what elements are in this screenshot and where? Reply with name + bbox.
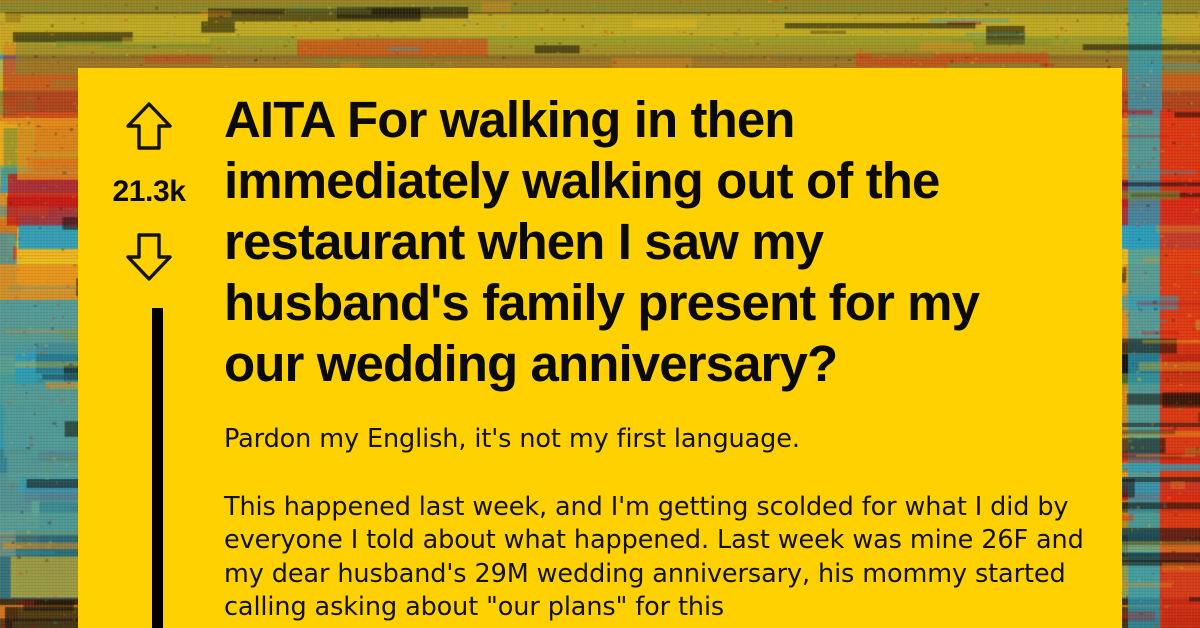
vote-rail: 21.3k: [78, 68, 220, 628]
post-card: 21.3k AITA For walking in then immediate…: [78, 68, 1122, 628]
post-title: AITA For walking in then immediately wal…: [224, 89, 1044, 394]
post-paragraph: This happened last week, and I'm getting…: [224, 491, 1104, 625]
thread-collapse-bar[interactable]: [152, 308, 163, 628]
arrow-down-icon[interactable]: [125, 230, 173, 282]
vote-score: 21.3k: [78, 175, 220, 209]
post-content: AITA For walking in then immediately wal…: [224, 68, 1122, 628]
post-paragraph: Pardon my English, it's not my first lan…: [224, 423, 1104, 457]
arrow-up-icon[interactable]: [125, 101, 173, 153]
